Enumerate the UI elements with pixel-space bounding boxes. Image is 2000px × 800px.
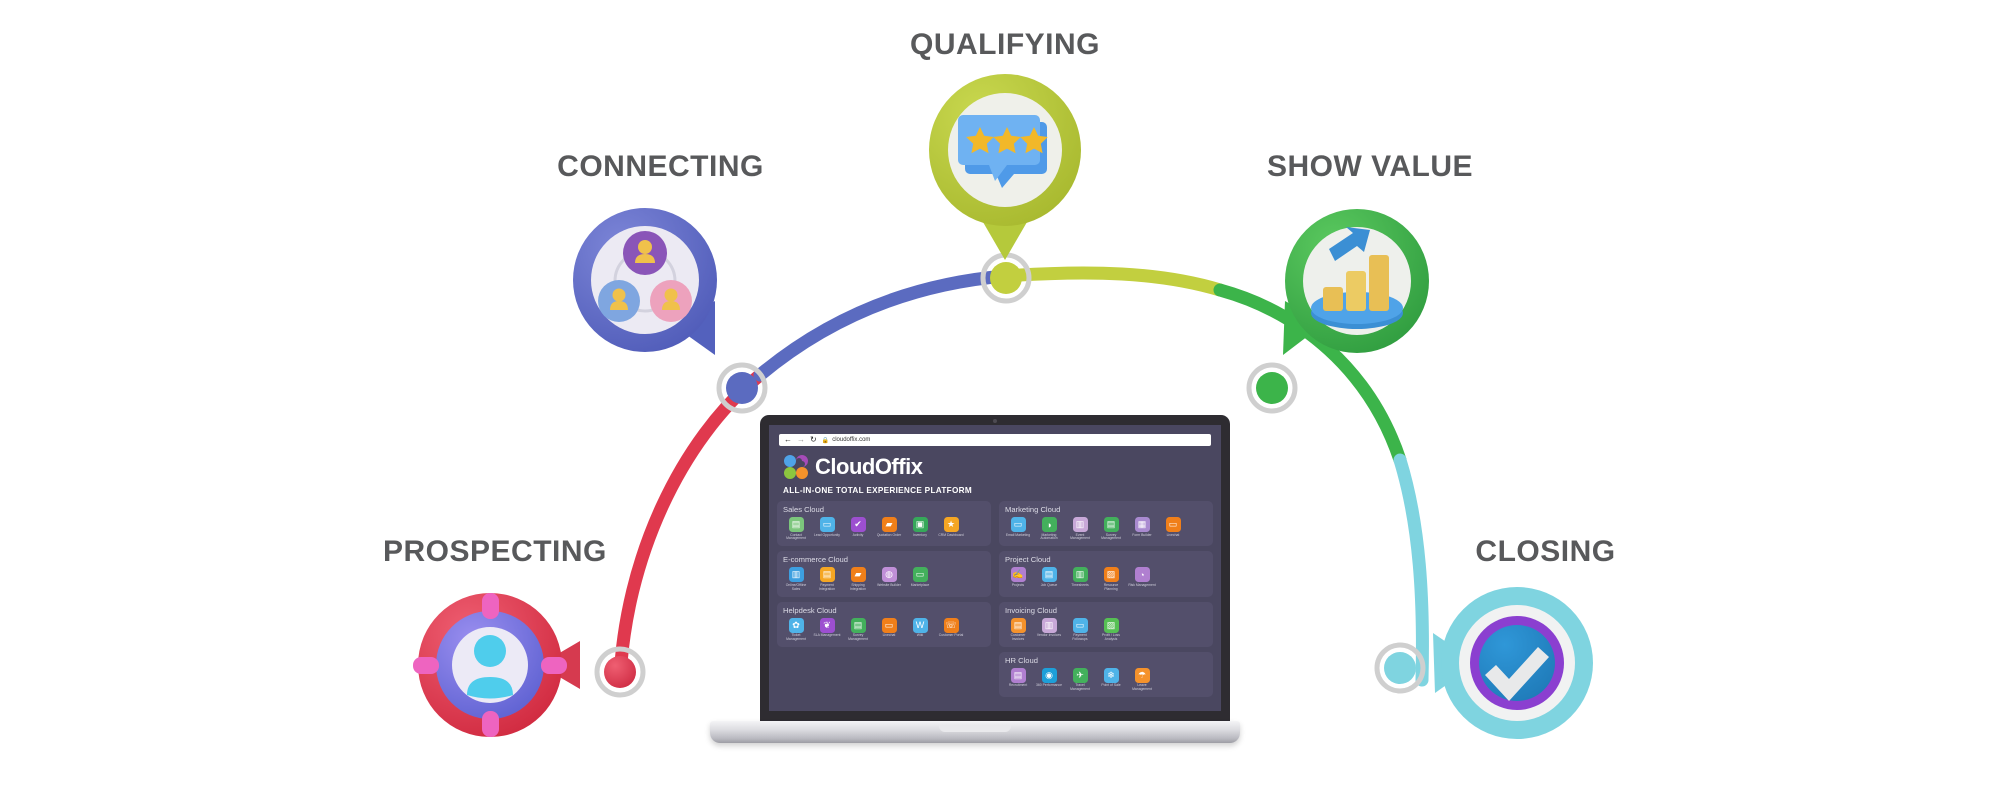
product-tile-label: Contact Management [782, 534, 810, 542]
target-person-icon [405, 585, 595, 745]
product-tile-icon: ▥ [789, 567, 804, 582]
left-column: Sales Cloud▤Contact Management▭Lead Oppo… [777, 501, 991, 705]
stage-icon-connecting[interactable] [565, 205, 735, 365]
product-tile-label: Email Marketing [1004, 534, 1032, 538]
product-tile-row: ✿Ticket Management❦SLA Management▤Survey… [783, 618, 985, 642]
product-tile[interactable]: ▨Profit / Loss Analysis [1098, 618, 1124, 642]
product-tile-label: Activity [844, 534, 872, 538]
product-tile-label: 360 Performance [1035, 684, 1063, 688]
product-tile-icon: ❄ [1104, 668, 1119, 683]
stage-label-prospecting: PROSPECTING [383, 535, 598, 569]
product-tile-label: Livechat [1159, 534, 1187, 538]
product-tile[interactable]: ▤Customer Invoices [1005, 618, 1031, 642]
product-card: Sales Cloud▤Contact Management▭Lead Oppo… [777, 501, 991, 546]
product-tile[interactable]: ▭Payment Followups [1067, 618, 1093, 642]
product-tile[interactable]: ▤Survey Management [1098, 517, 1124, 541]
product-tile-icon: W [913, 618, 928, 633]
product-card-title: Invoicing Cloud [1005, 606, 1207, 615]
product-tile-label: Travel Management [1066, 684, 1094, 692]
laptop-lid: ← → ↻ 🔒 cloudoffix.com CloudOffix ALL-IN [760, 415, 1230, 725]
product-tile-icon: ▭ [1011, 517, 1026, 532]
product-tile-icon: ▭ [1073, 618, 1088, 633]
product-tile-label: Survey Management [844, 634, 872, 642]
product-tile-label: Job Queue [1035, 584, 1063, 588]
product-tile-icon: ▨ [1104, 567, 1119, 582]
product-tile[interactable]: ▥Vendor Invoices [1036, 618, 1062, 642]
product-tile[interactable]: ▨Resource Planning [1098, 567, 1124, 591]
product-tile-row: ▤Customer Invoices▥Vendor Invoices▭Payme… [1005, 618, 1207, 642]
back-arrow-icon[interactable]: ← [784, 436, 792, 444]
product-tile-icon: ✍ [1011, 567, 1026, 582]
product-tile-icon: ▭ [882, 618, 897, 633]
arc-segment-connecting [760, 276, 1005, 375]
product-tile-icon: ❦ [820, 618, 835, 633]
product-tile-row: ✍Projects▤Job Queue▥Timesheets▨Resource … [1005, 567, 1207, 591]
product-card-title: Sales Cloud [783, 505, 985, 514]
product-tile-label: Survey Management [1097, 534, 1125, 542]
product-card: Marketing Cloud▭Email Marketing◑Marketin… [999, 501, 1213, 546]
arc-node-show-value [1249, 365, 1295, 411]
arc-segment-qualifying [1005, 273, 1220, 290]
product-tile[interactable]: ▭Livechat [1160, 517, 1186, 541]
arc-segment-closing [1400, 460, 1422, 680]
product-tile[interactable]: ▤Contact Management [783, 517, 809, 541]
product-tile-icon: ▭ [913, 567, 928, 582]
product-tile[interactable]: ▥Online/Offline Sales [783, 567, 809, 591]
product-tile-icon: ✔ [851, 517, 866, 532]
product-tile-label: Livechat [875, 634, 903, 638]
people-network-icon [565, 205, 735, 365]
review-stars-bubble-icon [920, 70, 1090, 260]
product-tile-icon: ◍ [882, 567, 897, 582]
product-tile[interactable]: ◑Marketing Automation [1036, 517, 1062, 541]
stage-icon-qualifying[interactable] [920, 70, 1090, 260]
product-tile-icon: ▰ [851, 567, 866, 582]
product-tile-label: Website Builder [875, 584, 903, 588]
arc-node-connecting [719, 365, 765, 411]
laptop-camera [993, 419, 997, 423]
product-tile-icon: ◔ [1135, 567, 1150, 582]
forward-arrow-icon[interactable]: → [797, 436, 805, 444]
stage-label-closing: CLOSING [1438, 535, 1653, 569]
product-card: Project Cloud✍Projects▤Job Queue▥Timeshe… [999, 551, 1213, 596]
product-tile[interactable]: ✿Ticket Management [783, 618, 809, 642]
product-tile-label: Marketing Automation [1035, 534, 1063, 542]
product-tile-label: Recruitment [1004, 684, 1032, 688]
product-tile[interactable]: ▤Payment Integration [814, 567, 840, 591]
product-tile-icon: ▤ [1011, 618, 1026, 633]
product-tile-label: SLA Management [813, 634, 841, 638]
stage-label-qualifying: QUALIFYING [890, 28, 1120, 62]
product-tile[interactable]: ▤Job Queue [1036, 567, 1062, 591]
product-tile-icon: ◉ [1042, 668, 1057, 683]
arc-node-prospecting [597, 649, 643, 695]
product-tile-label: Event Management [1066, 534, 1094, 542]
product-tile-label: Marketplace [906, 584, 934, 588]
laptop-notch [939, 725, 1011, 732]
product-tile[interactable]: ▦Form Builder [1129, 517, 1155, 541]
product-tile[interactable]: WWiki [907, 618, 933, 642]
product-tile[interactable]: ◔Risk Management [1129, 567, 1155, 591]
product-tile[interactable]: ▤Survey Management [845, 618, 871, 642]
product-tile-label: Lead Opportunity [813, 534, 841, 538]
cloudoffix-dots-logo [783, 454, 809, 480]
product-tile-icon: ▥ [1073, 517, 1088, 532]
product-tile[interactable]: ▤Recruitment [1005, 668, 1031, 692]
product-tile-label: Form Builder [1128, 534, 1156, 538]
product-tile[interactable]: ✈Travel Management [1067, 668, 1093, 692]
check-circle-icon [1425, 575, 1605, 755]
product-card-title: HR Cloud [1005, 656, 1207, 665]
product-tile-icon: ▦ [1135, 517, 1150, 532]
arc-node-closing [1377, 645, 1423, 691]
product-card-title: Helpdesk Cloud [783, 606, 985, 615]
product-tile-icon: ▭ [820, 517, 835, 532]
product-card-title: Project Cloud [1005, 555, 1207, 564]
product-tile-label: Wiki [906, 634, 934, 638]
product-tile[interactable]: ✍Projects [1005, 567, 1031, 591]
product-tile-row: ▥Online/Offline Sales▤Payment Integratio… [783, 567, 985, 591]
product-tile[interactable]: ◍Website Builder [876, 567, 902, 591]
product-tile[interactable]: ▭Email Marketing [1005, 517, 1031, 541]
product-tile-icon: ▨ [1104, 618, 1119, 633]
product-tile[interactable]: ▥Event Management [1067, 517, 1093, 541]
product-tile[interactable]: ▣Inventory [907, 517, 933, 541]
stage-label-connecting: CONNECTING [553, 150, 768, 184]
product-tile-icon: ▤ [851, 618, 866, 633]
brand-name: CloudOffix [815, 456, 922, 478]
stage-label-show-value: SHOW VALUE [1255, 150, 1485, 184]
product-tile-label: Point of Sale [1097, 684, 1125, 688]
lock-icon: 🔒 [822, 437, 829, 444]
product-tile-label: Inventory [906, 534, 934, 538]
product-tile-label: Vendor Invoices [1035, 634, 1063, 638]
product-tile[interactable]: ★CRM Dashboard [938, 517, 964, 541]
stage-icon-closing[interactable] [1425, 575, 1605, 755]
product-tile-label: Shipping Integration [844, 584, 872, 592]
browser-window: ← → ↻ 🔒 cloudoffix.com CloudOffix ALL-IN [769, 425, 1221, 711]
product-tile-icon: ▣ [913, 517, 928, 532]
product-tile[interactable]: ▭Livechat [876, 618, 902, 642]
laptop-mockup: ← → ↻ 🔒 cloudoffix.com CloudOffix ALL-IN [710, 415, 1240, 755]
product-tile-label: Quotation Order [875, 534, 903, 538]
stage-icon-show-value[interactable] [1275, 205, 1445, 365]
product-tile-icon: ☂ [1135, 668, 1150, 683]
product-tile-label: Ticket Management [782, 634, 810, 642]
product-tile-icon: ▤ [1011, 668, 1026, 683]
product-tile-label: Leave Management [1128, 684, 1156, 692]
right-column: Marketing Cloud▭Email Marketing◑Marketin… [999, 501, 1213, 705]
product-tile-label: Payment Followups [1066, 634, 1094, 642]
product-tile-icon: ▥ [1073, 567, 1088, 582]
growth-bar-chart-icon [1275, 205, 1445, 365]
product-tile-icon: ▤ [789, 517, 804, 532]
product-tile[interactable]: ▰Quotation Order [876, 517, 902, 541]
product-tile-icon: ▰ [882, 517, 897, 532]
address-url: cloudoffix.com [832, 437, 870, 443]
product-tile-label: Risk Management [1128, 584, 1156, 588]
product-tile-icon: ▥ [1042, 618, 1057, 633]
product-tile-label: Projects [1004, 584, 1032, 588]
cloudoffix-brand: CloudOffix [783, 454, 1213, 480]
product-tile-icon: ◑ [1042, 517, 1057, 532]
product-tile-icon: ★ [944, 517, 959, 532]
product-card: Helpdesk Cloud✿Ticket Management❦SLA Man… [777, 602, 991, 647]
product-card-title: E-commerce Cloud [783, 555, 985, 564]
product-tile[interactable]: ❦SLA Management [814, 618, 840, 642]
product-tile-row: ▭Email Marketing◑Marketing Automation▥Ev… [1005, 517, 1207, 541]
product-tile-icon: ▤ [820, 567, 835, 582]
product-tile-label: Customer Invoices [1004, 634, 1032, 642]
product-tile-icon: ▤ [1042, 567, 1057, 582]
product-tile[interactable]: ◉360 Performance [1036, 668, 1062, 692]
product-card: Invoicing Cloud▤Customer Invoices▥Vendor… [999, 602, 1213, 647]
product-tile-label: Resource Planning [1097, 584, 1125, 592]
product-tile-label: Timesheets [1066, 584, 1094, 588]
product-tile-row: ▤Recruitment◉360 Performance✈Travel Mana… [1005, 668, 1207, 692]
product-tile-label: CRM Dashboard [937, 534, 965, 538]
arc-node-qualifying [983, 255, 1029, 301]
product-tile-icon: ✿ [789, 618, 804, 633]
product-tile-icon: ☏ [944, 618, 959, 633]
product-tile-icon: ▤ [1104, 517, 1119, 532]
product-tile-label: Profit / Loss Analysis [1097, 634, 1125, 642]
address-field[interactable]: 🔒 cloudoffix.com [822, 437, 1206, 444]
stage-icon-prospecting[interactable] [405, 585, 595, 745]
product-tile-icon: ✈ [1073, 668, 1088, 683]
product-tile-icon: ▭ [1166, 517, 1181, 532]
product-tile[interactable]: ▭Lead Opportunity [814, 517, 840, 541]
product-tile-row: ▤Contact Management▭Lead Opportunity✔Act… [783, 517, 985, 541]
product-tile-label: Payment Integration [813, 584, 841, 592]
product-tile[interactable]: ▥Timesheets [1067, 567, 1093, 591]
reload-icon[interactable]: ↻ [810, 436, 817, 444]
product-card-title: Marketing Cloud [1005, 505, 1207, 514]
product-tile[interactable]: ▭Marketplace [907, 567, 933, 591]
product-tile[interactable]: ☂Leave Management [1129, 668, 1155, 692]
product-tile-label: Online/Offline Sales [782, 584, 810, 592]
product-tile-label: Customer Portal [937, 634, 965, 638]
brand-tagline: ALL-IN-ONE TOTAL EXPERIENCE PLATFORM [783, 486, 1213, 495]
product-card: HR Cloud▤Recruitment◉360 Performance✈Tra… [999, 652, 1213, 697]
product-tile[interactable]: ✔Activity [845, 517, 871, 541]
product-card: E-commerce Cloud▥Online/Offline Sales▤Pa… [777, 551, 991, 596]
product-tile[interactable]: ▰Shipping Integration [845, 567, 871, 591]
browser-toolbar[interactable]: ← → ↻ 🔒 cloudoffix.com [779, 434, 1211, 446]
product-tile[interactable]: ❄Point of Sale [1098, 668, 1124, 692]
product-tile[interactable]: ☏Customer Portal [938, 618, 964, 642]
